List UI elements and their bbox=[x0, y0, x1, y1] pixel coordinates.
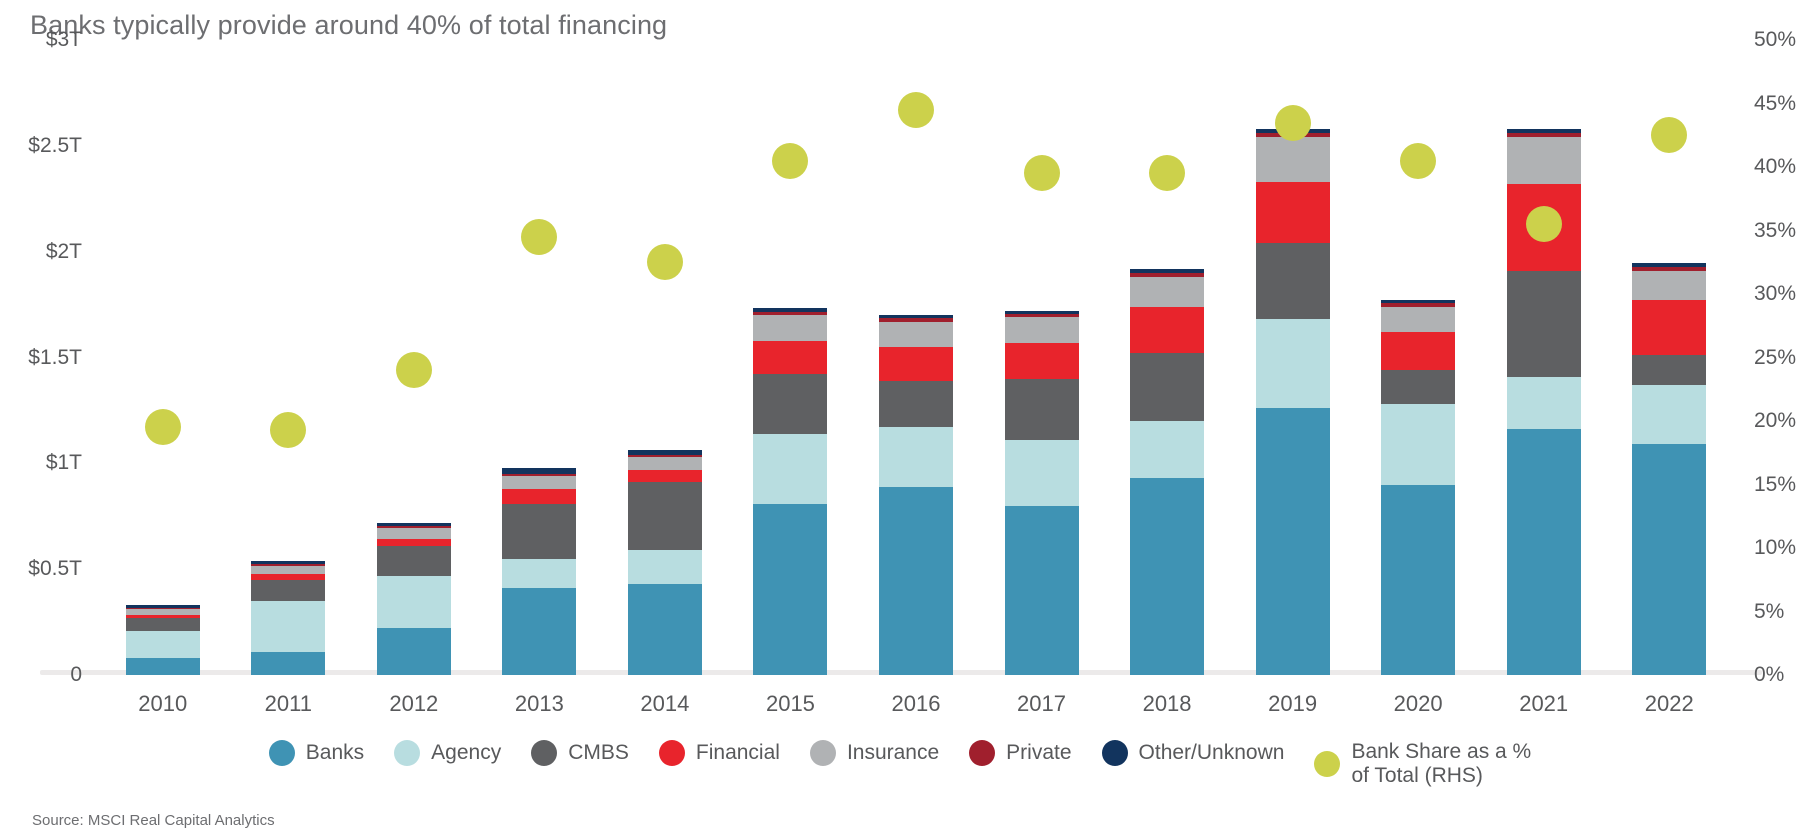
legend-cmbs[interactable]: CMBS bbox=[531, 740, 629, 766]
bar-segment-banks[interactable] bbox=[377, 628, 451, 675]
legend-financial[interactable]: Financial bbox=[659, 740, 780, 766]
y2-axis-tick-label: 5% bbox=[1754, 600, 1784, 624]
bar-segment-cmbs[interactable] bbox=[502, 504, 576, 559]
legend-swatch-icon bbox=[269, 740, 295, 766]
bar-segment-banks[interactable] bbox=[879, 487, 953, 675]
stacked-bar[interactable] bbox=[1632, 263, 1706, 675]
legend-other-unknown[interactable]: Other/Unknown bbox=[1102, 740, 1285, 766]
bar-segment-agency[interactable] bbox=[1130, 421, 1204, 478]
y2-axis-tick-label: 45% bbox=[1754, 92, 1796, 116]
bar-segment-insurance[interactable] bbox=[1256, 137, 1330, 181]
stacked-bar[interactable] bbox=[1256, 129, 1330, 675]
y2-axis-tick-label: 0% bbox=[1754, 663, 1784, 687]
legend-private[interactable]: Private bbox=[969, 740, 1071, 766]
x-axis-tick-label: 2022 bbox=[1645, 691, 1694, 717]
legend-label: Insurance bbox=[847, 741, 939, 765]
stacked-bar[interactable] bbox=[251, 561, 325, 675]
bar-group: 2013 bbox=[477, 40, 603, 675]
bar-segment-agency[interactable] bbox=[502, 559, 576, 589]
x-axis-tick-label: 2021 bbox=[1519, 691, 1568, 717]
bar-segment-financial[interactable] bbox=[879, 347, 953, 381]
bar-group: 2022 bbox=[1606, 40, 1732, 675]
bar-segment-cmbs[interactable] bbox=[753, 374, 827, 433]
bar-segment-cmbs[interactable] bbox=[126, 618, 200, 631]
stacked-bar[interactable] bbox=[753, 308, 827, 675]
bar-segment-financial[interactable] bbox=[1256, 182, 1330, 243]
bar-segment-agency[interactable] bbox=[628, 550, 702, 584]
y2-axis-tick-label: 15% bbox=[1754, 473, 1796, 497]
stacked-bar[interactable] bbox=[502, 468, 576, 675]
stacked-bar[interactable] bbox=[1130, 269, 1204, 675]
x-axis-tick-label: 2019 bbox=[1268, 691, 1317, 717]
bar-segment-financial[interactable] bbox=[1005, 343, 1079, 379]
x-axis-tick-label: 2015 bbox=[766, 691, 815, 717]
bank-share-dot[interactable] bbox=[772, 143, 808, 179]
stacked-bar[interactable] bbox=[377, 523, 451, 675]
bar-segment-agency[interactable] bbox=[879, 427, 953, 486]
bar-segment-banks[interactable] bbox=[1507, 429, 1581, 675]
x-axis-tick-label: 2010 bbox=[138, 691, 187, 717]
bar-group: 2019 bbox=[1230, 40, 1356, 675]
y-axis-tick-label: 0 bbox=[70, 663, 82, 687]
legend-swatch-icon bbox=[969, 740, 995, 766]
y2-axis-tick-label: 50% bbox=[1754, 28, 1796, 52]
bar-group: 2015 bbox=[728, 40, 854, 675]
bar-segment-cmbs[interactable] bbox=[377, 546, 451, 576]
bar-segment-financial[interactable] bbox=[753, 341, 827, 375]
plot-area: 0$0.5T$1T$1.5T$2T$2.5T$3T0%5%10%15%20%25… bbox=[100, 40, 1732, 675]
bar-segment-agency[interactable] bbox=[126, 631, 200, 659]
bar-group: 2012 bbox=[351, 40, 477, 675]
y2-axis-tick-label: 40% bbox=[1754, 155, 1796, 179]
bar-segment-insurance[interactable] bbox=[1507, 137, 1581, 184]
bar-group: 2011 bbox=[226, 40, 352, 675]
x-axis-tick-label: 2017 bbox=[1017, 691, 1066, 717]
bar-segment-banks[interactable] bbox=[753, 504, 827, 675]
chart-root: Banks typically provide around 40% of to… bbox=[0, 0, 1800, 836]
bar-segment-agency[interactable] bbox=[1381, 404, 1455, 484]
bar-segment-financial[interactable] bbox=[1381, 332, 1455, 370]
bar-segment-financial[interactable] bbox=[502, 489, 576, 504]
bar-segment-banks[interactable] bbox=[502, 588, 576, 675]
legend-bank-share[interactable]: Bank Share as a % of Total (RHS) bbox=[1314, 740, 1531, 787]
bar-segment-banks[interactable] bbox=[1632, 444, 1706, 675]
bar-segment-banks[interactable] bbox=[1381, 485, 1455, 676]
y-axis-tick-label: $3T bbox=[46, 28, 82, 52]
bar-segment-cmbs[interactable] bbox=[628, 482, 702, 550]
bank-share-dot[interactable] bbox=[1149, 155, 1185, 191]
bar-segment-banks[interactable] bbox=[1005, 506, 1079, 675]
chart-title: Banks typically provide around 40% of to… bbox=[30, 10, 667, 41]
y-axis-tick-label: $1T bbox=[46, 451, 82, 475]
y-axis-tick-label: $0.5T bbox=[28, 557, 82, 581]
legend-label: Banks bbox=[306, 741, 364, 765]
x-axis-tick-label: 2018 bbox=[1143, 691, 1192, 717]
bank-share-dot[interactable] bbox=[270, 412, 306, 448]
bar-segment-cmbs[interactable] bbox=[1507, 271, 1581, 377]
y-axis-tick-label: $2T bbox=[46, 240, 82, 264]
stacked-bar[interactable] bbox=[628, 450, 702, 675]
bar-segment-cmbs[interactable] bbox=[1256, 243, 1330, 319]
bar-group: 2010 bbox=[100, 40, 226, 675]
bar-group: 2014 bbox=[602, 40, 728, 675]
stacked-bar[interactable] bbox=[126, 605, 200, 675]
bar-segment-cmbs[interactable] bbox=[879, 381, 953, 428]
bar-segment-agency[interactable] bbox=[1632, 385, 1706, 444]
legend-label: Other/Unknown bbox=[1139, 741, 1285, 765]
legend-insurance[interactable]: Insurance bbox=[810, 740, 939, 766]
bar-segment-financial[interactable] bbox=[628, 470, 702, 483]
y2-axis-tick-label: 30% bbox=[1754, 282, 1796, 306]
legend-swatch-icon bbox=[810, 740, 836, 766]
stacked-bar[interactable] bbox=[1381, 300, 1455, 675]
bank-share-dot[interactable] bbox=[1400, 143, 1436, 179]
legend-label: CMBS bbox=[568, 741, 629, 765]
bar-segment-agency[interactable] bbox=[753, 434, 827, 504]
legend-label: Private bbox=[1006, 741, 1071, 765]
bar-segment-banks[interactable] bbox=[126, 658, 200, 675]
bar-segment-insurance[interactable] bbox=[377, 528, 451, 539]
bar-segment-insurance[interactable] bbox=[1130, 277, 1204, 307]
bar-segment-agency[interactable] bbox=[1256, 319, 1330, 408]
legend-label: Agency bbox=[431, 741, 501, 765]
x-axis-tick-label: 2020 bbox=[1394, 691, 1443, 717]
bar-segment-banks[interactable] bbox=[251, 652, 325, 675]
bank-share-dot[interactable] bbox=[396, 352, 432, 388]
legend-label: Financial bbox=[696, 741, 780, 765]
x-axis-tick-label: 2014 bbox=[640, 691, 689, 717]
y2-axis-tick-label: 35% bbox=[1754, 219, 1796, 243]
bank-share-dot[interactable] bbox=[1275, 105, 1311, 141]
bank-share-dot[interactable] bbox=[521, 219, 557, 255]
bar-segment-insurance[interactable] bbox=[1381, 307, 1455, 332]
bar-group: 2021 bbox=[1481, 40, 1607, 675]
bar-segment-banks[interactable] bbox=[1256, 408, 1330, 675]
y-axis-tick-label: $1.5T bbox=[28, 346, 82, 370]
stacked-bar[interactable] bbox=[879, 315, 953, 675]
bar-segment-insurance[interactable] bbox=[1005, 317, 1079, 342]
bar-segment-cmbs[interactable] bbox=[1381, 370, 1455, 404]
bank-share-dot[interactable] bbox=[647, 244, 683, 280]
bank-share-dot[interactable] bbox=[898, 92, 934, 128]
bar-segment-banks[interactable] bbox=[1130, 478, 1204, 675]
y2-axis-tick-label: 25% bbox=[1754, 346, 1796, 370]
bar-segment-cmbs[interactable] bbox=[1130, 353, 1204, 421]
bar-segment-agency[interactable] bbox=[1507, 377, 1581, 430]
bar-segment-financial[interactable] bbox=[1632, 300, 1706, 355]
y-axis-tick-label: $2.5T bbox=[28, 134, 82, 158]
legend-label: Bank Share as a % of Total (RHS) bbox=[1351, 740, 1531, 787]
legend-swatch-icon bbox=[531, 740, 557, 766]
bank-share-dot[interactable] bbox=[145, 409, 181, 445]
stacked-bar[interactable] bbox=[1005, 311, 1079, 675]
bank-share-dot[interactable] bbox=[1526, 206, 1562, 242]
bar-segment-insurance[interactable] bbox=[1632, 271, 1706, 301]
bar-segment-banks[interactable] bbox=[628, 584, 702, 675]
legend-agency[interactable]: Agency bbox=[394, 740, 501, 766]
bar-group: 2017 bbox=[979, 40, 1105, 675]
bar-segment-insurance[interactable] bbox=[628, 457, 702, 470]
bar-segment-cmbs[interactable] bbox=[251, 580, 325, 601]
bar-segment-insurance[interactable] bbox=[251, 566, 325, 574]
bar-segment-agency[interactable] bbox=[1005, 440, 1079, 506]
bank-share-dot[interactable] bbox=[1651, 117, 1687, 153]
legend-swatch-icon bbox=[394, 740, 420, 766]
bar-segment-cmbs[interactable] bbox=[1632, 355, 1706, 385]
bar-group: 2016 bbox=[853, 40, 979, 675]
bar-segment-cmbs[interactable] bbox=[1005, 379, 1079, 440]
y2-axis-tick-label: 20% bbox=[1754, 409, 1796, 433]
chart-legend: BanksAgencyCMBSFinancialInsurancePrivate… bbox=[0, 740, 1800, 787]
legend-swatch-icon bbox=[659, 740, 685, 766]
bar-group: 2020 bbox=[1355, 40, 1481, 675]
chart-source: Source: MSCI Real Capital Analytics bbox=[32, 812, 275, 829]
x-axis-tick-label: 2011 bbox=[265, 691, 312, 717]
legend-banks[interactable]: Banks bbox=[269, 740, 364, 766]
bar-segment-agency[interactable] bbox=[251, 601, 325, 652]
x-axis-tick-label: 2013 bbox=[515, 691, 564, 717]
bar-segment-agency[interactable] bbox=[377, 576, 451, 629]
bar-segment-insurance[interactable] bbox=[879, 322, 953, 347]
y2-axis-tick-label: 10% bbox=[1754, 536, 1796, 560]
bar-segment-insurance[interactable] bbox=[502, 476, 576, 489]
legend-swatch-icon bbox=[1314, 751, 1340, 777]
bar-segment-insurance[interactable] bbox=[753, 315, 827, 340]
bar-group: 2018 bbox=[1104, 40, 1230, 675]
bank-share-dot[interactable] bbox=[1024, 155, 1060, 191]
x-axis-tick-label: 2012 bbox=[389, 691, 438, 717]
x-axis-tick-label: 2016 bbox=[892, 691, 941, 717]
legend-swatch-icon bbox=[1102, 740, 1128, 766]
bar-segment-financial[interactable] bbox=[377, 539, 451, 546]
bar-segment-financial[interactable] bbox=[1130, 307, 1204, 354]
